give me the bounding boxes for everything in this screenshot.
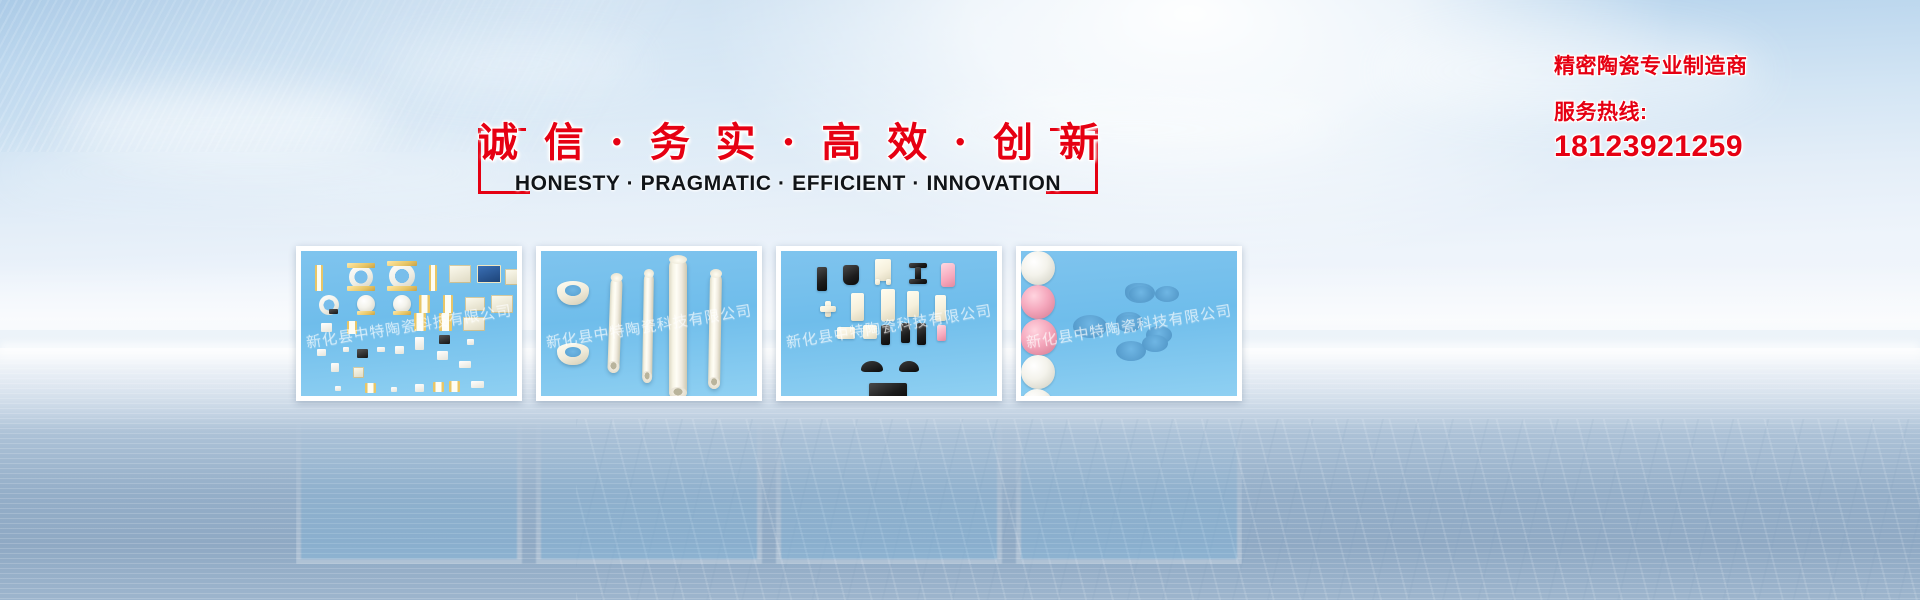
component [415, 337, 424, 350]
component [321, 323, 332, 332]
component [433, 382, 444, 392]
component [429, 265, 437, 291]
ring-bore [565, 347, 582, 357]
ceramic-arc [861, 361, 883, 372]
ceramic-part [817, 267, 827, 291]
ceramic-tube [607, 277, 622, 373]
component [437, 351, 448, 360]
component [315, 265, 323, 291]
component [335, 386, 341, 391]
component [471, 381, 484, 388]
ceramic-part [907, 291, 919, 317]
component [347, 286, 375, 291]
component [387, 286, 417, 291]
ceramic-part [837, 327, 855, 339]
product-panel-row: 新化县中特陶瓷科技有限公司 [296, 246, 1242, 401]
panel-image: 新化县中特陶瓷科技有限公司 [301, 251, 517, 396]
component [347, 263, 375, 268]
tube-bore [607, 361, 619, 373]
component [491, 295, 513, 313]
panel-image: 新化县中特陶瓷科技有限公司 [1021, 251, 1237, 396]
ceramic-part [863, 325, 877, 339]
water-ripples [576, 419, 1920, 600]
tube-top [710, 269, 722, 278]
ceramic-disc [1021, 355, 1055, 389]
ceramic-disc [1021, 285, 1055, 319]
ceramic-tube [669, 259, 687, 396]
component [377, 347, 385, 352]
component [343, 347, 349, 352]
ceramic-part [901, 323, 910, 343]
tube-bore [708, 377, 720, 389]
panel-image: 新化县中特陶瓷科技有限公司 [781, 251, 997, 396]
disc-hole [1129, 286, 1153, 302]
ceramic-part [935, 295, 946, 321]
component [391, 387, 397, 392]
component [459, 361, 471, 368]
component [365, 383, 376, 393]
component [463, 317, 485, 331]
ceramic-part [881, 325, 890, 345]
contact-block: 精密陶瓷专业制造商 服务热线: 18123921259 [1554, 50, 1874, 164]
ceramic-part [881, 289, 895, 321]
slogan-chinese: 诚 信 · 务 实 · 高 效 · 创 新 [478, 110, 1098, 168]
component [353, 367, 364, 378]
ceramic-ring [557, 343, 589, 365]
tube-top [644, 269, 654, 278]
ceramic-arc [899, 361, 919, 372]
hotline-number[interactable]: 18123921259 [1554, 130, 1874, 164]
component [357, 311, 375, 315]
component [467, 339, 474, 345]
component [387, 261, 417, 266]
ceramic-part [941, 263, 955, 287]
product-panel-ceramic-discs[interactable]: 新化县中特陶瓷科技有限公司 [1016, 246, 1242, 401]
component [395, 346, 404, 354]
component [331, 363, 339, 372]
panel-image: 新化县中特陶瓷科技有限公司 [541, 251, 757, 396]
component [357, 349, 368, 358]
ceramic-part [820, 306, 836, 312]
promotional-banner: 诚 信 · 务 实 · 高 效 · 创 新 HONESTY · PRAGMATI… [0, 0, 1920, 600]
component [505, 269, 517, 285]
component [329, 309, 338, 314]
tube-top [611, 273, 623, 282]
ceramic-disc [1021, 319, 1057, 355]
product-panel-smd-components[interactable]: 新化县中特陶瓷科技有限公司 [296, 246, 522, 401]
product-panel-ceramic-blocks[interactable]: 新化县中特陶瓷科技有限公司 [776, 246, 1002, 401]
ceramic-part [886, 279, 891, 285]
component [415, 384, 424, 392]
ceramic-part [937, 325, 946, 341]
component [449, 265, 471, 283]
tube-top [669, 255, 687, 264]
cloud [384, 40, 644, 88]
component [443, 295, 453, 313]
component [439, 335, 450, 344]
product-panel-ceramic-tubes[interactable]: 新化县中特陶瓷科技有限公司 [536, 246, 762, 401]
ceramic-part [917, 323, 926, 345]
disc-hole [1073, 315, 1108, 338]
component [347, 321, 357, 334]
component [477, 265, 501, 283]
cloud [0, 145, 520, 199]
ring-bore [565, 285, 582, 296]
ceramic-block [869, 383, 907, 396]
component [414, 313, 426, 331]
ceramic-part [875, 259, 891, 281]
component [317, 349, 326, 356]
ceramic-disc [1021, 389, 1053, 396]
slogan-english: HONESTY · PRAGMATIC · EFFICIENT · INNOVA… [478, 172, 1098, 196]
disc-hole [1155, 286, 1179, 302]
company-tagline: 精密陶瓷专业制造商 [1554, 50, 1874, 80]
ceramic-part [875, 279, 880, 285]
ceramic-part [851, 293, 864, 321]
component [449, 381, 460, 392]
component [419, 295, 430, 313]
hotline-label: 服务热线: [1554, 96, 1874, 126]
ceramic-disc [1021, 251, 1055, 285]
component [465, 297, 485, 311]
ceramic-tube [708, 273, 722, 389]
ceramic-part [843, 265, 859, 285]
component [393, 311, 411, 315]
slogan-block: 诚 信 · 务 实 · 高 效 · 创 新 HONESTY · PRAGMATI… [478, 104, 1098, 204]
tube-bore [642, 371, 652, 383]
tube-bore [669, 387, 687, 396]
ceramic-tube [642, 273, 654, 383]
disc-hole [1142, 335, 1168, 352]
ceramic-ring [557, 281, 589, 305]
disc-hole [1116, 315, 1142, 332]
ceramic-part [909, 279, 927, 284]
component [439, 313, 452, 331]
